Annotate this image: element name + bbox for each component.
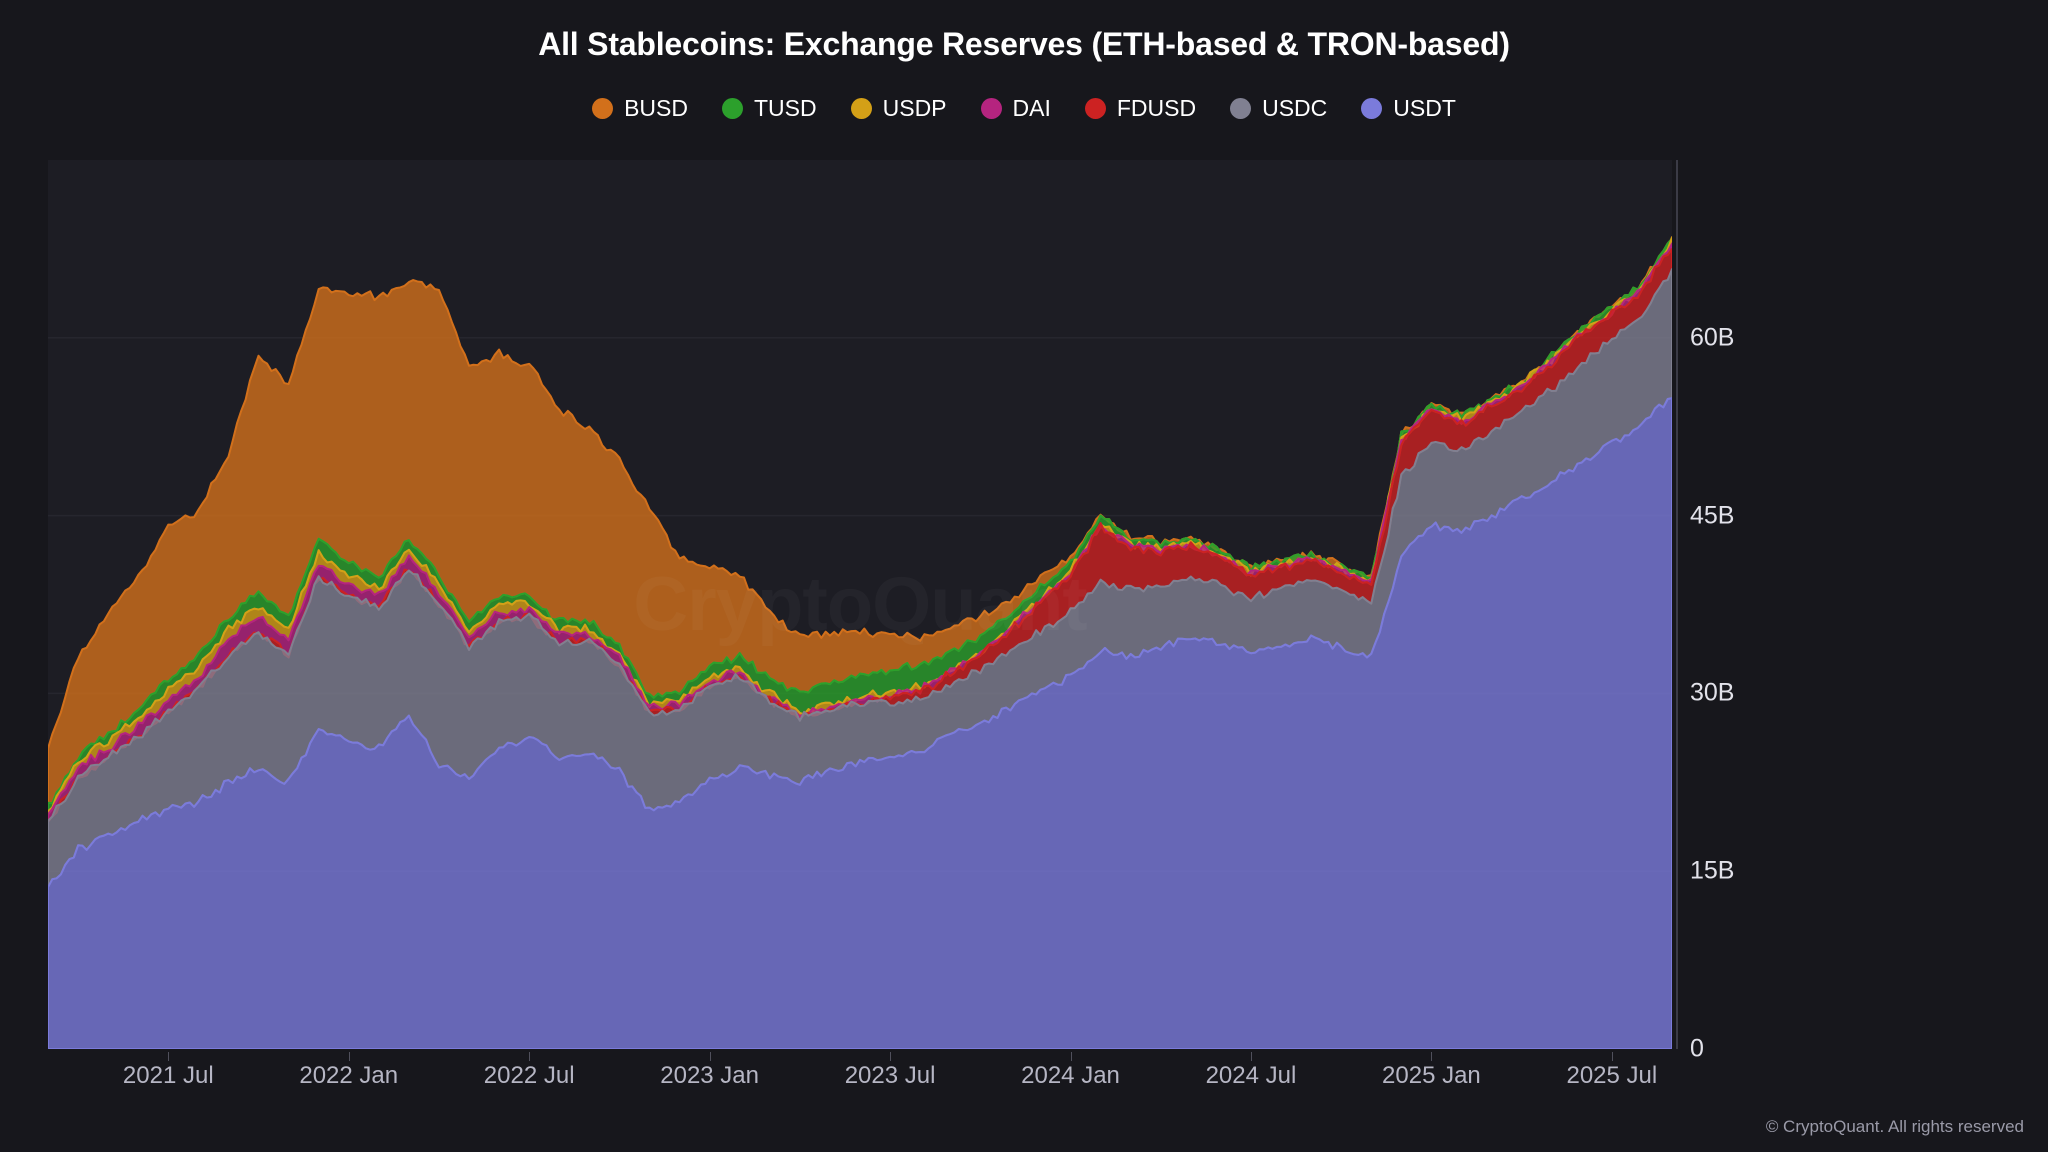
legend-swatch-icon — [1085, 98, 1106, 119]
x-tick-mark — [1612, 1052, 1613, 1061]
x-tick-label: 2023 Jul — [845, 1062, 936, 1090]
x-tick-mark — [168, 1052, 169, 1061]
copyright-credit: © CryptoQuant. All rights reserved — [1766, 1117, 2024, 1137]
legend-item-tusd[interactable]: TUSD — [722, 97, 817, 120]
legend-item-label: BUSD — [624, 97, 688, 120]
legend-swatch-icon — [722, 98, 743, 119]
chart-card: All Stablecoins: Exchange Reserves (ETH-… — [0, 0, 2048, 1152]
x-tick-label: 2022 Jan — [299, 1062, 398, 1090]
x-axis: 2021 Jul2022 Jan2022 Jul2023 Jan2023 Jul… — [0, 1062, 2048, 1102]
legend-item-label: DAI — [1013, 97, 1051, 120]
legend-item-busd[interactable]: BUSD — [592, 97, 688, 120]
plot-area[interactable]: CryptoQuant — [48, 160, 1672, 1049]
x-tick-label: 2025 Jul — [1566, 1062, 1657, 1090]
x-tick-mark — [1251, 1052, 1252, 1061]
y-tick-label: 45B — [1690, 501, 1734, 530]
chart-legend: BUSDTUSDUSDPDAIFDUSDUSDCUSDT — [0, 97, 2048, 120]
legend-swatch-icon — [1361, 98, 1382, 119]
legend-item-dai[interactable]: DAI — [981, 97, 1051, 120]
x-tick-mark — [349, 1052, 350, 1061]
x-tick-mark — [1071, 1052, 1072, 1061]
legend-swatch-icon — [981, 98, 1002, 119]
legend-item-usdt[interactable]: USDT — [1361, 97, 1456, 120]
x-tick-mark — [710, 1052, 711, 1061]
y-tick-label: 30B — [1690, 679, 1734, 708]
stacked-area-chart — [48, 160, 1672, 1049]
x-tick-label: 2024 Jul — [1206, 1062, 1297, 1090]
x-tick-mark — [890, 1052, 891, 1061]
legend-swatch-icon — [1230, 98, 1251, 119]
legend-item-label: USDP — [883, 97, 947, 120]
x-tick-mark — [529, 1052, 530, 1061]
x-tick-label: 2025 Jan — [1382, 1062, 1481, 1090]
legend-item-usdc[interactable]: USDC — [1230, 97, 1327, 120]
legend-item-label: USDT — [1393, 97, 1456, 120]
y-axis: 015B30B45B60B — [1690, 160, 1810, 1049]
x-tick-mark — [1431, 1052, 1432, 1061]
legend-swatch-icon — [592, 98, 613, 119]
x-tick-label: 2022 Jul — [484, 1062, 575, 1090]
x-tick-label: 2024 Jan — [1021, 1062, 1120, 1090]
legend-item-usdp[interactable]: USDP — [851, 97, 947, 120]
legend-item-label: USDC — [1262, 97, 1327, 120]
legend-item-label: FDUSD — [1117, 97, 1196, 120]
x-tick-label: 2021 Jul — [123, 1062, 214, 1090]
legend-swatch-icon — [851, 98, 872, 119]
y-tick-label: 60B — [1690, 323, 1734, 352]
page-title: All Stablecoins: Exchange Reserves (ETH-… — [0, 26, 2048, 63]
x-tick-label: 2023 Jan — [660, 1062, 759, 1090]
legend-item-label: TUSD — [754, 97, 817, 120]
y-tick-label: 15B — [1690, 857, 1734, 886]
y-tick-label: 0 — [1690, 1035, 1704, 1064]
legend-item-fdusd[interactable]: FDUSD — [1085, 97, 1196, 120]
y-axis-line — [1676, 160, 1678, 1049]
